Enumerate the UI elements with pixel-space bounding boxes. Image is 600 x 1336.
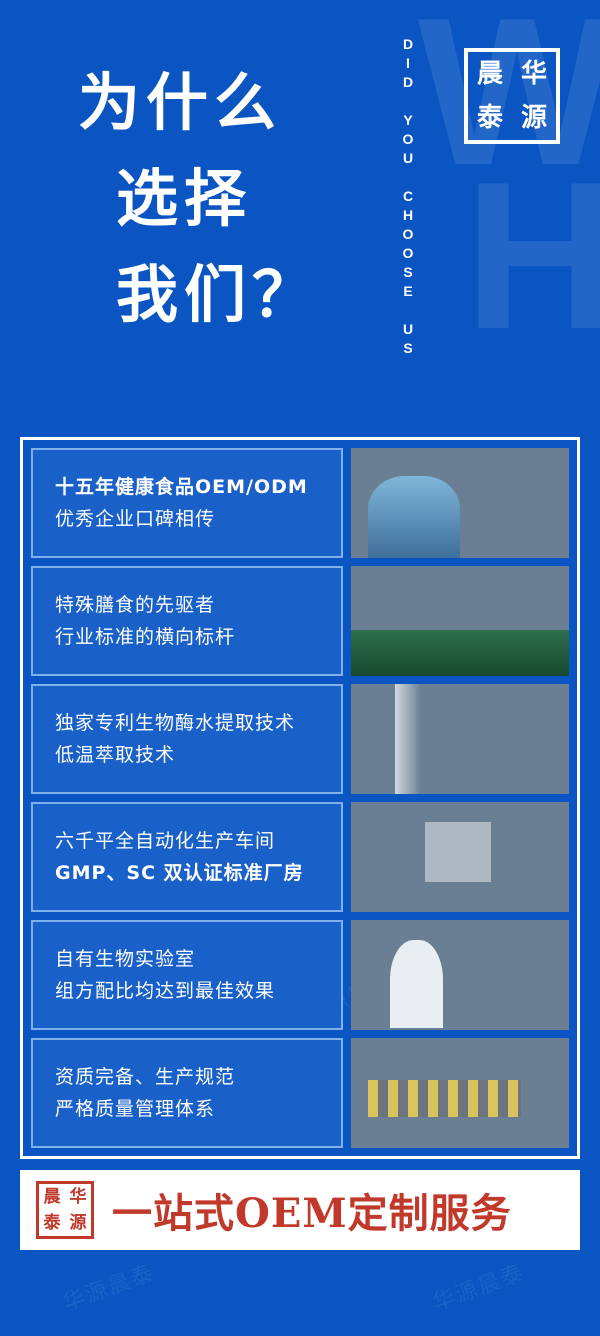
footer-seal-char-4: 泰	[44, 1215, 61, 1232]
title-line-2: 选择	[78, 151, 378, 247]
feature-list: 十五年健康食品OEM/ODM 优秀企业口碑相传 特殊膳食的先驱者 行业标准的横向…	[20, 437, 580, 1159]
vertical-english-caption: DID YOU CHOOSE US	[400, 36, 426, 396]
list-item: 自有生物实验室 组方配比均达到最佳效果	[31, 920, 569, 1030]
feature-1-line-2: 优秀企业口碑相传	[55, 503, 341, 535]
list-item: 特殊膳食的先驱者 行业标准的横向标杆	[31, 566, 569, 676]
feature-6-line-1: 资质完备、生产规范	[55, 1061, 341, 1093]
feature-2-line-2: 行业标准的横向标杆	[55, 621, 341, 653]
laboratory-staff-photo	[351, 920, 569, 1030]
footer-slogan: 一站式OEM定制服务	[112, 1181, 512, 1239]
feature-4-line-1: 六千平全自动化生产车间	[55, 825, 341, 857]
feature-3-line-1: 独家专利生物酶水提取技术	[55, 707, 341, 739]
feature-3-line-2: 低温萃取技术	[55, 739, 341, 771]
feature-5-line-1: 自有生物实验室	[55, 943, 341, 975]
filling-line-photo	[351, 684, 569, 794]
seal-char-1: 华	[521, 61, 547, 87]
seal-char-2: 晨	[477, 61, 503, 87]
footer-seal-char-1: 华	[70, 1189, 87, 1206]
feature-text-1: 十五年健康食品OEM/ODM 优秀企业口碑相传	[31, 448, 343, 558]
seal-char-3: 源	[521, 105, 547, 131]
feature-5-line-2: 组方配比均达到最佳效果	[55, 975, 341, 1007]
feature-text-2: 特殊膳食的先驱者 行业标准的横向标杆	[31, 566, 343, 676]
conference-audience-photo	[351, 566, 569, 676]
company-seal-logo: 华 晨 源 泰	[464, 48, 560, 144]
seal-char-4: 泰	[477, 105, 503, 131]
feature-6-line-2: 严格质量管理体系	[55, 1093, 341, 1125]
page-title: 为什么 选择 我们？	[78, 55, 378, 343]
footer-seal-logo: 华 晨 源 泰	[36, 1181, 94, 1239]
footer-seal-char-3: 源	[70, 1215, 87, 1232]
lab-technician-photo	[351, 448, 569, 558]
feature-2-line-1: 特殊膳食的先驱者	[55, 589, 341, 621]
list-item: 资质完备、生产规范 严格质量管理体系	[31, 1038, 569, 1148]
list-item: 六千平全自动化生产车间 GMP、SC 双认证标准厂房	[31, 802, 569, 912]
poster-header: 为什么 选择 我们？ DID YOU CHOOSE US 华 晨 源 泰	[0, 0, 600, 430]
feature-text-6: 资质完备、生产规范 严格质量管理体系	[31, 1038, 343, 1148]
capsule-packaging-photo	[351, 1038, 569, 1148]
list-item: 独家专利生物酶水提取技术 低温萃取技术	[31, 684, 569, 794]
title-line-3: 我们？	[78, 247, 378, 343]
list-item: 十五年健康食品OEM/ODM 优秀企业口碑相传	[31, 448, 569, 558]
cleanroom-workshop-photo	[351, 802, 569, 912]
feature-text-3: 独家专利生物酶水提取技术 低温萃取技术	[31, 684, 343, 794]
feature-1-line-1: 十五年健康食品OEM/ODM	[55, 471, 341, 503]
feature-4-line-2: GMP、SC 双认证标准厂房	[55, 857, 341, 889]
feature-text-4: 六千平全自动化生产车间 GMP、SC 双认证标准厂房	[31, 802, 343, 912]
footer-banner: 华 晨 源 泰 一站式OEM定制服务	[20, 1170, 580, 1250]
feature-text-5: 自有生物实验室 组方配比均达到最佳效果	[31, 920, 343, 1030]
footer-seal-char-2: 晨	[44, 1189, 61, 1206]
title-line-1: 为什么	[78, 55, 378, 151]
